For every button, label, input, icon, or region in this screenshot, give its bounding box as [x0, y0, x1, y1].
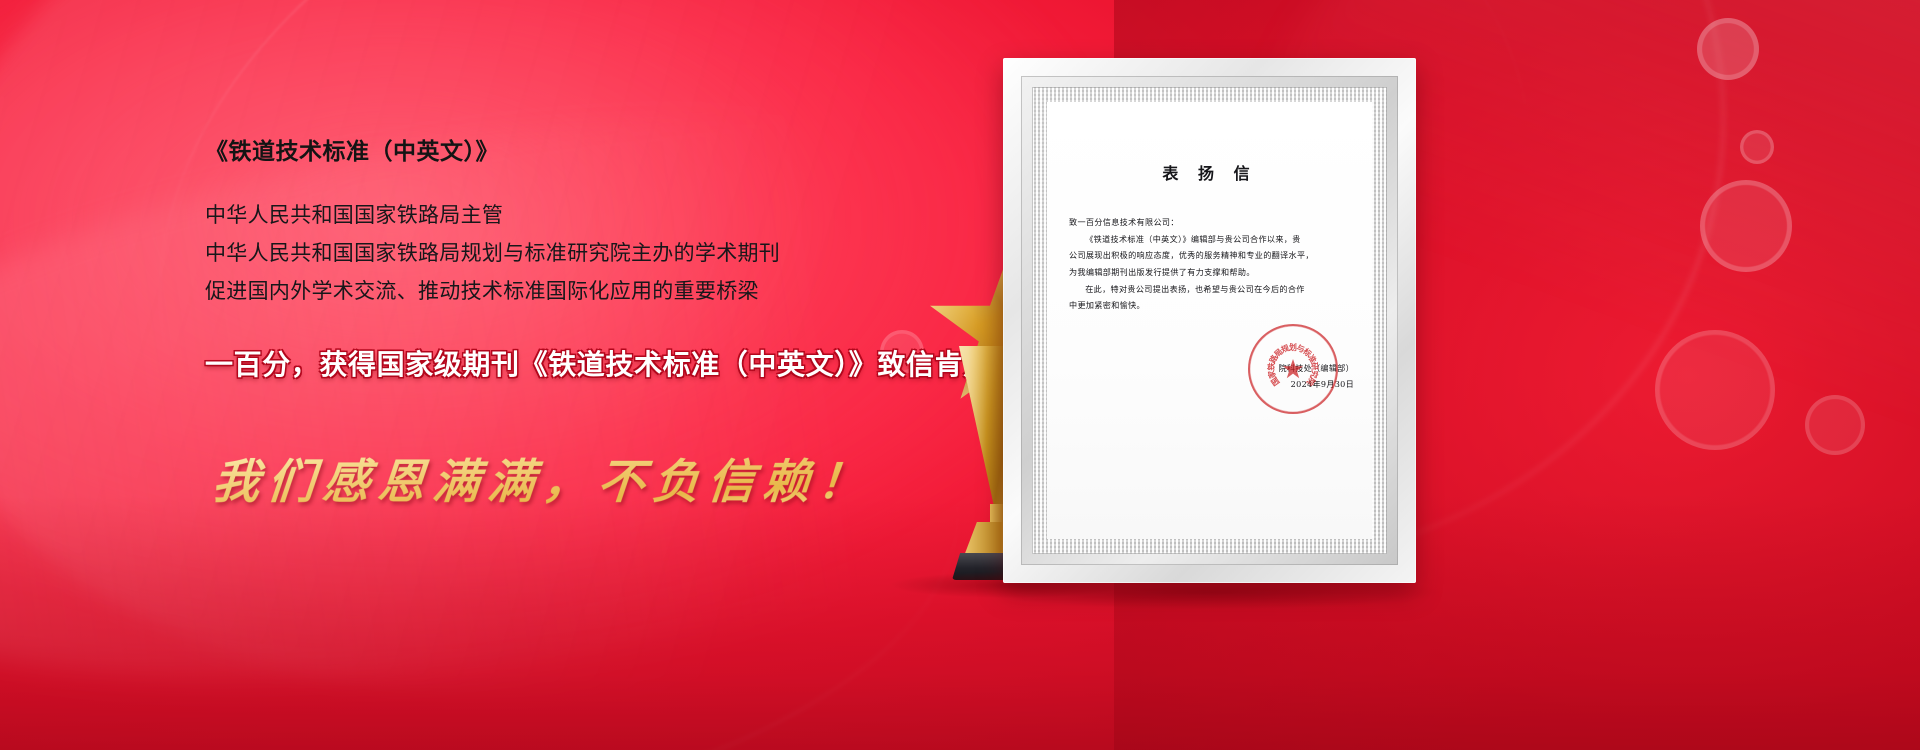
certificate-title: 表 扬 信	[1047, 160, 1372, 184]
certificate-mat: 表 扬 信 致一百分信息技术有限公司： 《铁道技术标准（中英文）》编辑部与贵公司…	[1047, 102, 1372, 539]
certificate-body: 致一百分信息技术有限公司： 《铁道技术标准（中英文）》编辑部与贵公司合作以来，贵…	[1069, 214, 1350, 314]
subtitle-line-2: 中华人民共和国国家铁路局规划与标准研究院主办的学术期刊	[205, 243, 1035, 264]
bokeh-circle-5	[1805, 395, 1865, 455]
certificate-line-3: 公司展现出积极的响应态度，优秀的服务精神和专业的翻译水平，	[1069, 247, 1350, 264]
bokeh-circle-2	[1740, 130, 1774, 164]
certificate-line-5: 在此，特对贵公司提出表扬，也希望与贵公司在今后的合作	[1069, 281, 1350, 298]
certificate-signature: 国家铁路局规划与标准研究院 院科技处（编辑部） 2024年9月30日	[1047, 360, 1354, 392]
certificate-line-6: 中更加紧密和愉快。	[1069, 297, 1350, 314]
banner-root: 《铁道技术标准（中英文）》 中华人民共和国国家铁路局主管 中华人民共和国国家铁路…	[0, 0, 1920, 750]
subtitle-line-3: 促进国内外学术交流、推动技术标准国际化应用的重要桥梁	[205, 281, 1035, 302]
certificate-frame: 表 扬 信 致一百分信息技术有限公司： 《铁道技术标准（中英文）》编辑部与贵公司…	[1003, 58, 1416, 583]
official-seal-icon: 国家铁路局规划与标准研究院	[1248, 324, 1338, 414]
certificate-paper: 表 扬 信 致一百分信息技术有限公司： 《铁道技术标准（中英文）》编辑部与贵公司…	[1047, 102, 1372, 539]
certificate-line-4: 为我编辑部期刊出版发行提供了有力支撑和帮助。	[1069, 264, 1350, 281]
subtitle-line-1: 中华人民共和国国家铁路局主管	[205, 205, 1035, 226]
bokeh-circle-1	[1697, 18, 1759, 80]
bokeh-circle-3	[1700, 180, 1792, 272]
text-column: 《铁道技术标准（中英文）》 中华人民共和国国家铁路局主管 中华人民共和国国家铁路…	[205, 140, 1035, 512]
headline: 一百分，获得国家级期刊《铁道技术标准（中英文）》致信肯定!	[205, 350, 1035, 381]
seal-ring-text: 国家铁路局规划与标准研究院	[1250, 326, 1336, 412]
bokeh-circle-4	[1655, 330, 1775, 450]
certificate-line-1: 致一百分信息技术有限公司：	[1069, 214, 1350, 231]
certificate-line-2: 《铁道技术标准（中英文）》编辑部与贵公司合作以来，贵	[1069, 231, 1350, 248]
journal-title: 《铁道技术标准（中英文）》	[205, 140, 1035, 163]
